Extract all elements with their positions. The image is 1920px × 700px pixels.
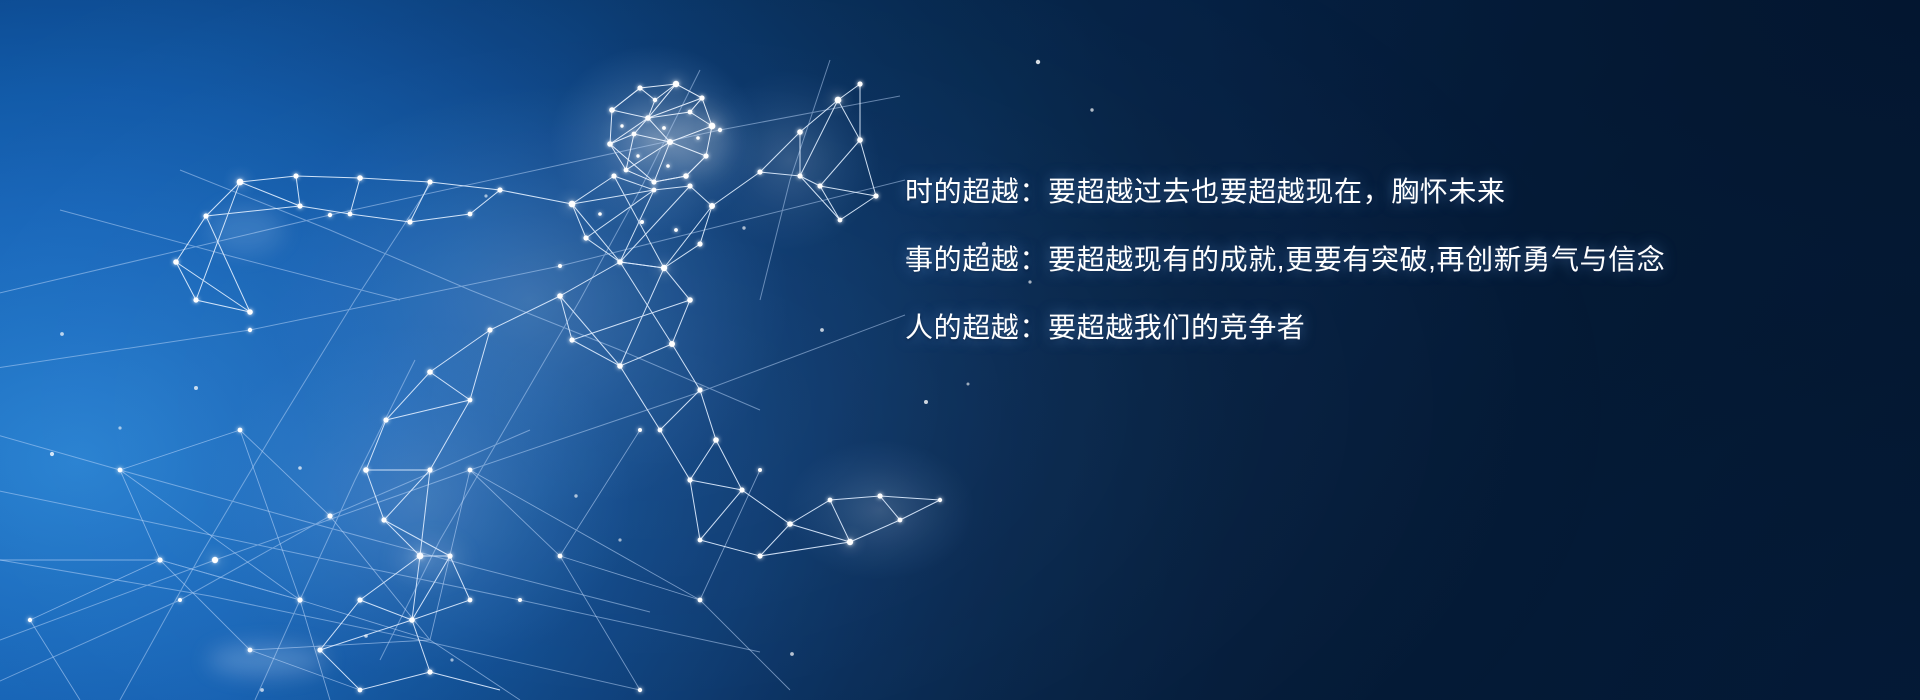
slogan-text-block: 时的超越：要超越过去也要超越现在，胸怀未来 事的超越：要超越现有的成就,更要有突… bbox=[905, 178, 1725, 342]
network-artwork bbox=[0, 0, 1920, 700]
slogan-line-people: 人的超越：要超越我们的竞争者 bbox=[905, 314, 1725, 342]
slogan-line-time: 时的超越：要超越过去也要超越现在，胸怀未来 bbox=[905, 178, 1725, 206]
slogan-line-matter: 事的超越：要超越现有的成就,更要有突破,再创新勇气与信念 bbox=[905, 246, 1725, 274]
banner-stage: 时的超越：要超越过去也要超越现在，胸怀未来 事的超越：要超越现有的成就,更要有突… bbox=[0, 0, 1920, 700]
